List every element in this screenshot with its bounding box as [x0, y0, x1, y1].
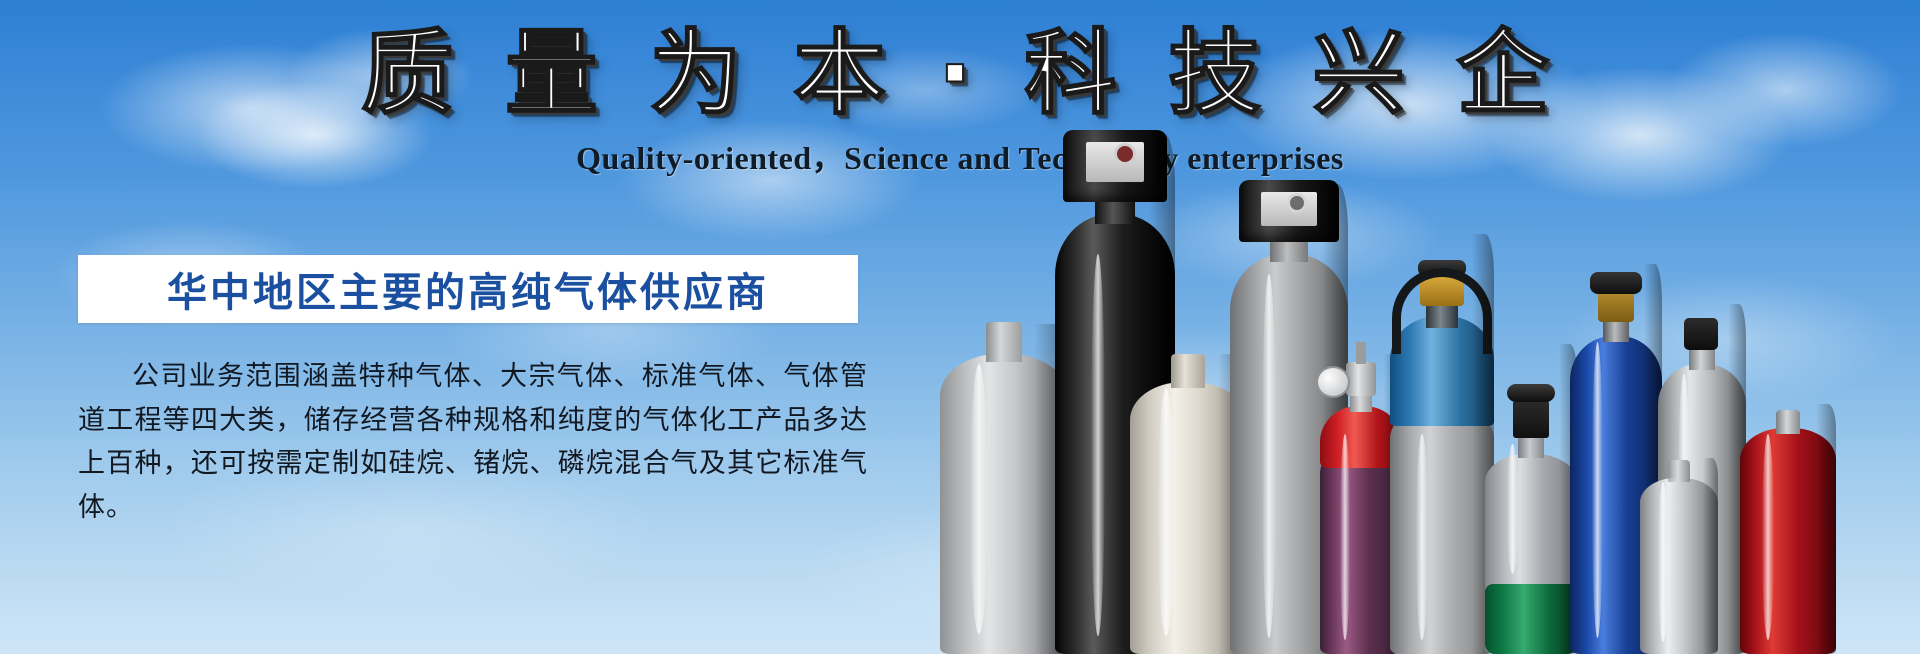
regulator-body-icon — [1346, 362, 1376, 396]
promo-banner: 质 量 为 本 · 科 技 兴 企 Quality-oriented，Scien… — [0, 0, 1920, 654]
regulator-stem-icon — [1356, 342, 1366, 364]
slogan-box: 华中地区主要的高纯气体供应商 — [78, 255, 858, 323]
light-grey-cylinder-icon — [940, 324, 1068, 654]
green-base-band-icon — [1485, 584, 1577, 654]
aluminium-cylinder-valve-icon — [1684, 318, 1718, 350]
cap-knob-icon — [1117, 146, 1133, 162]
banner-body-copy: 公司业务范围涵盖特种气体、大宗气体、标准气体、气体管道工程等四大类，储存经营各种… — [78, 355, 868, 530]
gas-cylinder-group — [940, 0, 1920, 654]
regulator-gauge-icon — [1316, 366, 1350, 398]
valve-guard-icon — [1392, 268, 1492, 354]
dark-red-cylinder-icon — [1740, 404, 1836, 654]
cap-knob-icon — [1290, 196, 1304, 210]
green-cylinder-knob-icon — [1507, 384, 1555, 402]
slogan-text: 华中地区主要的高纯气体供应商 — [167, 260, 769, 318]
green-base-cylinder-icon — [1485, 344, 1577, 654]
blue-cylinder-cap-icon — [1590, 272, 1642, 294]
blue-steel-cylinder-icon — [1390, 234, 1494, 654]
small-aluminium-cylinder-icon — [1640, 458, 1718, 654]
cream-white-cylinder-icon — [1130, 354, 1246, 654]
green-cylinder-valve-icon — [1513, 398, 1549, 438]
